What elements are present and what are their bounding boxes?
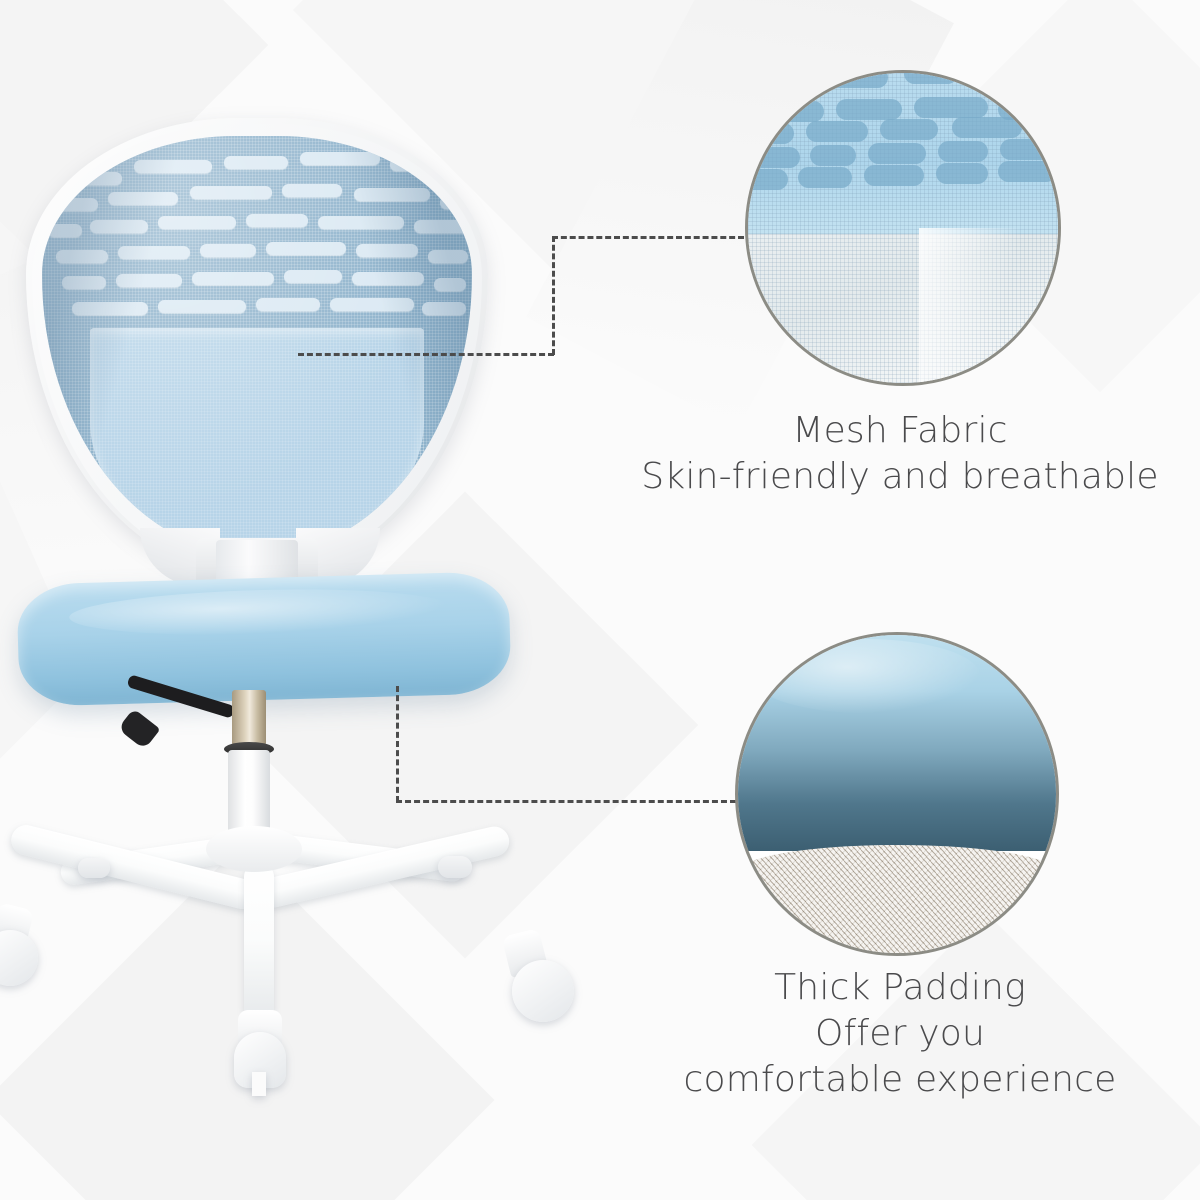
mesh-closeup-slot — [836, 99, 902, 120]
mesh-connector-segment-lower — [298, 353, 554, 356]
mesh-closeup-slot — [904, 73, 958, 84]
padding-closeup-gloss — [751, 639, 980, 713]
mesh-closeup-slot — [880, 119, 938, 140]
mesh-closeup-slot — [914, 97, 988, 118]
circle-detail-mesh-icon — [745, 70, 1061, 386]
padding-caption-subtitle-1: Offer you — [610, 1011, 1190, 1057]
mesh-closeup-upper — [748, 73, 1058, 234]
caster-front-notch — [252, 1072, 266, 1096]
gas-cylinder-metal — [232, 690, 266, 746]
mesh-closeup-slot — [752, 123, 794, 144]
seat-highlight — [69, 585, 450, 640]
padding-closeup-base-fabric — [738, 845, 1056, 953]
backrest-mesh-panel — [42, 136, 472, 556]
mesh-closeup-slot — [1000, 139, 1056, 160]
mesh-closeup-slot — [998, 161, 1056, 182]
seat-cushion — [16, 571, 511, 707]
mesh-closeup-slot — [864, 165, 924, 186]
base-hub — [206, 826, 302, 872]
mesh-closeup-slot — [806, 121, 868, 142]
height-adjust-lever-tip — [118, 708, 161, 749]
caster-left — [0, 930, 38, 986]
mesh-closeup-fold-highlight — [919, 228, 1062, 386]
mesh-caption-title: Mesh Fabric — [600, 408, 1200, 454]
caster-right — [512, 960, 574, 1022]
mesh-shading-overlay — [42, 136, 472, 556]
circle-detail-padding-icon — [735, 632, 1059, 956]
padding-caption-subtitle-2: comfortable experience — [610, 1057, 1190, 1103]
infographic-canvas: Mesh Fabric Skin-friendly and breathable… — [0, 0, 1200, 1200]
mesh-closeup-slot — [810, 145, 856, 166]
padding-caption: Thick Padding Offer you comfortable expe… — [610, 965, 1190, 1103]
mesh-closeup-slot — [868, 143, 926, 164]
mesh-caption-subtitle: Skin-friendly and breathable — [600, 454, 1200, 500]
base-leg-front — [244, 862, 274, 1022]
mesh-connector-segment-upper — [552, 236, 744, 239]
mesh-closeup-slot — [748, 169, 788, 190]
padding-connector-segment-vertical — [396, 686, 399, 802]
caster-back-right — [438, 856, 472, 878]
office-chair-product-image — [0, 0, 620, 1200]
mesh-closeup-slot — [952, 117, 1022, 138]
padding-caption-title: Thick Padding — [610, 965, 1190, 1011]
mesh-closeup-slot — [938, 141, 988, 162]
mesh-closeup-slot — [798, 167, 852, 188]
mesh-caption: Mesh Fabric Skin-friendly and breathable — [600, 408, 1200, 500]
padding-connector-segment-horizontal — [396, 800, 736, 803]
mesh-connector-segment-vertical — [552, 236, 555, 355]
mesh-closeup-slot — [748, 147, 800, 168]
mesh-closeup-slot — [774, 101, 824, 122]
caster-back-left — [78, 858, 110, 878]
mesh-closeup-slot — [936, 163, 988, 184]
padding-closeup-cushion — [738, 635, 1056, 851]
mesh-closeup-slot — [816, 73, 888, 88]
